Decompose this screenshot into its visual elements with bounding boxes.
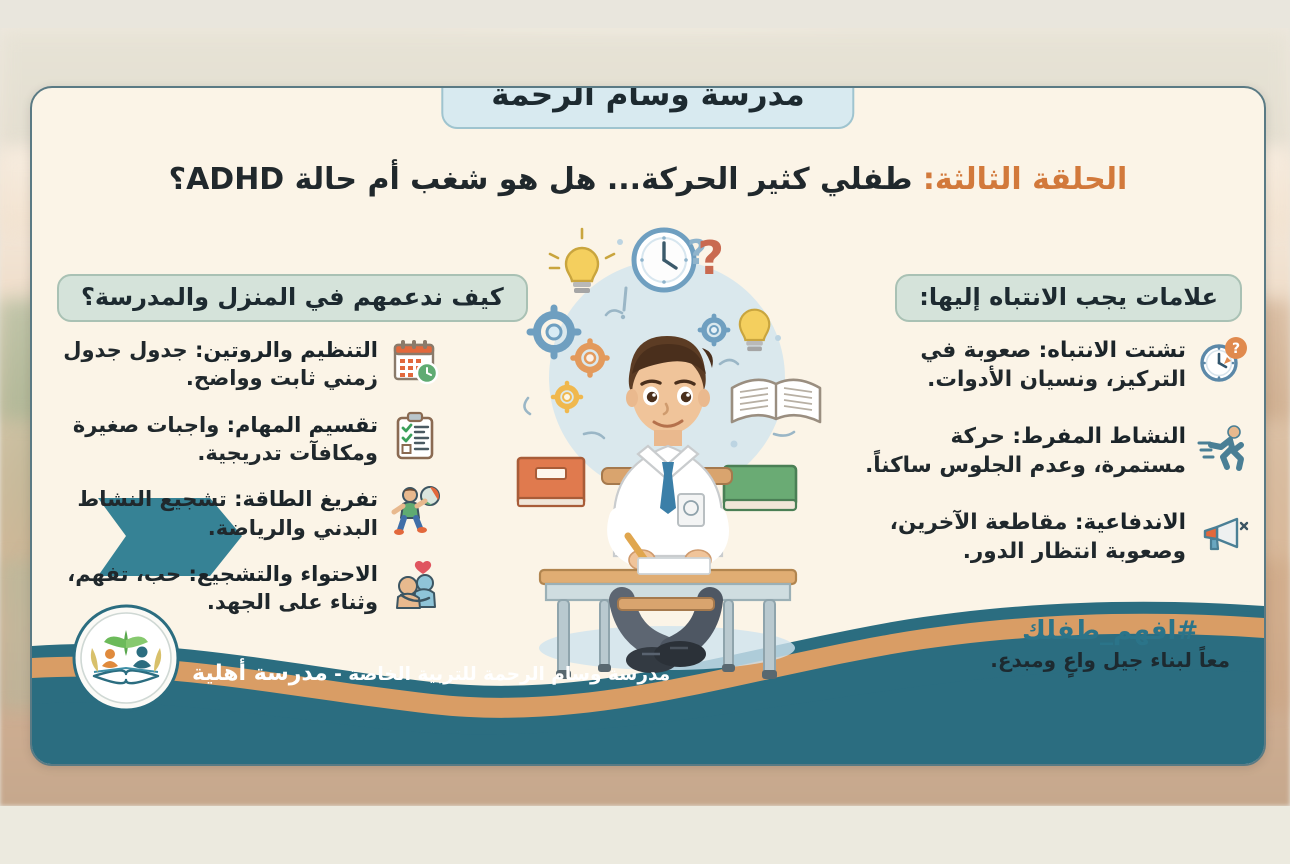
svg-text:?: ? — [697, 231, 724, 285]
school-logo — [72, 604, 180, 712]
svg-text:?: ? — [1232, 341, 1240, 357]
infographic-card: مدرسة وسام الرحمة الحلقة الثالثة: طفلي ك… — [30, 86, 1266, 766]
running-person-icon — [1196, 420, 1250, 474]
hug-hearts-icon — [388, 558, 442, 612]
banner-title-text: مدرسة وسام الرحمة — [491, 86, 804, 113]
list-item: الاندفاعية: مقاطعة الآخرين، وصعوبة انتظا… — [858, 506, 1250, 566]
hashtag-block: #افهم_طفلك معاً لبناء جيل واعٍ ومبدع. — [990, 616, 1230, 672]
list-item-lead: الاندفاعية: — [1075, 510, 1186, 535]
list-item-lead: الاحتواء والتشجيع: — [189, 562, 378, 586]
episode-label: الحلقة الثالثة: — [923, 162, 1127, 197]
list-item-lead: تفريغ الطاقة: — [234, 487, 378, 511]
footer-school-big: مدرسة أهلية — [192, 661, 328, 686]
list-item-lead: النشاط المفرط: — [1012, 424, 1186, 449]
list-item-text: التنظيم والروتين: جدول جدول زمني ثابت وو… — [50, 334, 378, 393]
section-header-signs-text: علامات يجب الانتباه إليها: — [919, 283, 1218, 311]
support-list: التنظيم والروتين: جدول جدول زمني ثابت وو… — [50, 334, 442, 633]
clipboard-checklist-icon — [388, 409, 442, 463]
hero-illustration: ? ? — [502, 218, 832, 688]
calendar-clock-icon — [388, 334, 442, 388]
section-header-signs: علامات يجب الانتباه إليها: — [895, 274, 1242, 322]
footer-school-small: مدرسة وسام الرحمة للتربية الخاصة - — [328, 664, 670, 685]
list-item-lead: التنظيم والروتين: — [195, 338, 378, 362]
child-ball-icon — [388, 483, 442, 537]
headline-rest: طفلي كثير الحركة... هل هو شغب أم حالة AD… — [169, 162, 923, 197]
list-item: النشاط المفرط: حركة مستمرة، وعدم الجلوس … — [858, 420, 1250, 480]
section-header-support: كيف ندعمهم في المنزل والمدرسة؟ — [57, 274, 528, 322]
banner-title: مدرسة وسام الرحمة — [441, 86, 854, 129]
list-item-text: تفريغ الطاقة: تشجيع النشاط البدني والريا… — [50, 483, 378, 542]
footer-school-line: مدرسة وسام الرحمة للتربية الخاصة - مدرسة… — [192, 661, 670, 686]
list-item-text: النشاط المفرط: حركة مستمرة، وعدم الجلوس … — [858, 420, 1186, 480]
tagline: معاً لبناء جيل واعٍ ومبدع. — [990, 648, 1230, 672]
section-header-support-text: كيف ندعمهم في المنزل والمدرسة؟ — [81, 283, 504, 311]
list-item: تفريغ الطاقة: تشجيع النشاط البدني والريا… — [50, 483, 442, 542]
top-letterbox-strip — [0, 0, 1290, 28]
list-item-text: تقسيم المهام: واجبات صغيرة ومكافآت تدريج… — [50, 409, 378, 468]
hashtag: #افهم_طفلك — [990, 616, 1230, 646]
signs-list: ? تشتت الانتباه: صعوبة في التركيز، ونسيا… — [858, 334, 1250, 592]
list-item-text: الاندفاعية: مقاطعة الآخرين، وصعوبة انتظا… — [858, 506, 1186, 566]
list-item: ? تشتت الانتباه: صعوبة في التركيز، ونسيا… — [858, 334, 1250, 394]
list-item-lead: تشتت الانتباه: — [1039, 338, 1186, 363]
list-item: تقسيم المهام: واجبات صغيرة ومكافآت تدريج… — [50, 409, 442, 468]
bottom-letterbox-strip — [0, 806, 1290, 864]
clock-question-icon: ? — [1196, 334, 1250, 388]
list-item-lead: تقسيم المهام: — [227, 413, 378, 437]
megaphone-icon — [1196, 506, 1250, 560]
list-item-text: تشتت الانتباه: صعوبة في التركيز، ونسيان … — [858, 334, 1186, 394]
infographic-canvas: مدرسة وسام الرحمة الحلقة الثالثة: طفلي ك… — [0, 0, 1290, 864]
page-title: الحلقة الثالثة: طفلي كثير الحركة... هل ه… — [32, 162, 1264, 197]
list-item: التنظيم والروتين: جدول جدول زمني ثابت وو… — [50, 334, 442, 393]
